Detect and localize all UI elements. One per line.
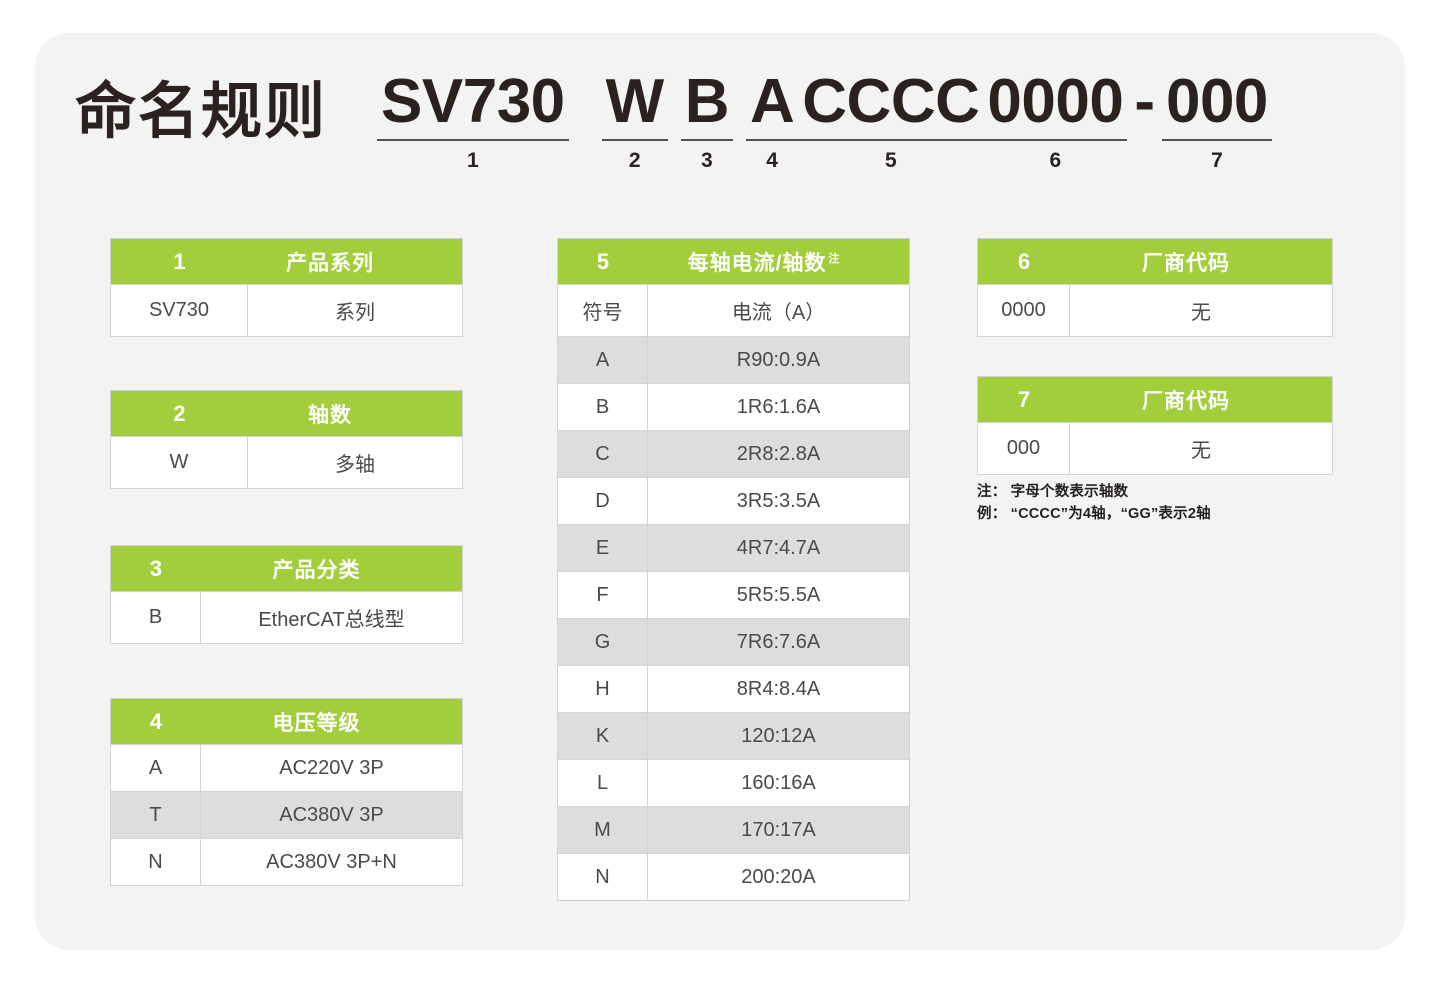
table-cell-code: L bbox=[558, 760, 648, 806]
table-header-label-text: 电压等级 bbox=[273, 712, 361, 735]
table-cell-description: 8R4:8.4A bbox=[648, 666, 909, 712]
code-segment-rule bbox=[798, 139, 983, 141]
table-cell-description: AC380V 3P bbox=[201, 792, 462, 838]
table-cell-description: 1R6:1.6A bbox=[648, 384, 909, 430]
table-row: E4R7:4.7A bbox=[558, 524, 909, 571]
table-row: AR90:0.9A bbox=[558, 336, 909, 383]
code-segment-text: SV730 bbox=[377, 69, 569, 134]
table-row: 符号电流（A） bbox=[558, 284, 909, 336]
table-product-category: 3产品分类BEtherCAT总线型 bbox=[110, 545, 463, 644]
table-current-per-axis: 5每轴电流/轴数注符号电流（A）AR90:0.9AB1R6:1.6AC2R8:2… bbox=[557, 238, 910, 901]
table-cell-description: R90:0.9A bbox=[648, 337, 909, 383]
code-segment-1: SV7301 bbox=[377, 69, 569, 171]
table-cell-code: F bbox=[558, 572, 648, 618]
code-segment-rule bbox=[602, 139, 668, 141]
table-row: K120:12A bbox=[558, 712, 909, 759]
table-header-label-text: 产品系列 bbox=[286, 252, 374, 275]
table-cell-code: SV730 bbox=[111, 285, 248, 336]
table-row: TAC380V 3P bbox=[111, 791, 462, 838]
code-segment-text: 0000 bbox=[983, 69, 1127, 134]
table-header-label: 产品系列 bbox=[248, 247, 462, 277]
table-cell-description: 系列 bbox=[248, 285, 462, 336]
table-row: BEtherCAT总线型 bbox=[111, 591, 462, 643]
table-cell-code: N bbox=[111, 839, 201, 885]
table-cell-description: 170:17A bbox=[648, 807, 909, 853]
table-header-label-text: 每轴电流/轴数 bbox=[688, 252, 827, 275]
model-code-breakdown: SV7301W2B3A4CCCC500006-0007 bbox=[377, 69, 1272, 171]
table-cell-code: E bbox=[558, 525, 648, 571]
footnote-line-1: 注： 字母个数表示轴数 bbox=[977, 481, 1211, 503]
table-cell-code: D bbox=[558, 478, 648, 524]
table-row: W多轴 bbox=[111, 436, 462, 488]
code-segment-text: CCCC bbox=[798, 69, 983, 134]
table-cell-code: 000 bbox=[978, 423, 1070, 474]
table-cell-description: 160:16A bbox=[648, 760, 909, 806]
table-header-index: 2 bbox=[111, 401, 248, 427]
code-segment-index: 2 bbox=[629, 150, 641, 171]
table-cell-code: N bbox=[558, 854, 648, 900]
code-segment-text: A bbox=[746, 69, 798, 134]
table-cell-description: 200:20A bbox=[648, 854, 909, 900]
code-dash: - bbox=[1134, 69, 1155, 134]
table-cell-code: A bbox=[558, 337, 648, 383]
code-segment-index: 4 bbox=[766, 150, 778, 171]
table-cell-description: 5R5:5.5A bbox=[648, 572, 909, 618]
table-cell-code: H bbox=[558, 666, 648, 712]
table-header: 4电压等级 bbox=[111, 699, 462, 744]
table-row: G7R6:7.6A bbox=[558, 618, 909, 665]
table-cell-description: 3R5:3.5A bbox=[648, 478, 909, 524]
table-cell-description: AC220V 3P bbox=[201, 745, 462, 791]
table-header-index: 7 bbox=[978, 387, 1070, 413]
table-header-label-text: 厂商代码 bbox=[1142, 390, 1230, 413]
page-title: 命名规则 bbox=[75, 81, 327, 142]
table-cell-description: AC380V 3P+N bbox=[201, 839, 462, 885]
header: 命名规则 SV7301W2B3A4CCCC500006-0007 bbox=[75, 55, 1272, 175]
table-header-label: 每轴电流/轴数注 bbox=[648, 247, 909, 277]
table-cell-code: 0000 bbox=[978, 285, 1070, 336]
code-segment-3: B3 bbox=[681, 69, 733, 171]
code-segment-rule bbox=[1162, 139, 1272, 141]
code-segment-index: 5 bbox=[885, 150, 897, 171]
table-row: NAC380V 3P+N bbox=[111, 838, 462, 885]
table-cell-code: T bbox=[111, 792, 201, 838]
code-segment-rule bbox=[983, 139, 1127, 141]
code-segment-index: 7 bbox=[1211, 150, 1223, 171]
table-row: D3R5:3.5A bbox=[558, 477, 909, 524]
table-row: 0000无 bbox=[978, 284, 1332, 336]
table-cell-code: A bbox=[111, 745, 201, 791]
table-row: F5R5:5.5A bbox=[558, 571, 909, 618]
table-header: 7厂商代码 bbox=[978, 377, 1332, 422]
table-row: M170:17A bbox=[558, 806, 909, 853]
code-segment-4: A4 bbox=[746, 69, 798, 171]
table-manufacturer-code-6: 6厂商代码0000无 bbox=[977, 238, 1333, 337]
table-header-index: 5 bbox=[558, 249, 648, 275]
table-cell-code: 符号 bbox=[558, 285, 648, 336]
table-header-index: 1 bbox=[111, 249, 248, 275]
table-cell-description: 电流（A） bbox=[648, 285, 909, 336]
code-segment-rule bbox=[681, 139, 733, 141]
table-cell-description: 7R6:7.6A bbox=[648, 619, 909, 665]
table-header: 5每轴电流/轴数注 bbox=[558, 239, 909, 284]
table-row: L160:16A bbox=[558, 759, 909, 806]
table-header-label: 轴数 bbox=[248, 399, 462, 429]
table-row: SV730系列 bbox=[111, 284, 462, 336]
code-segment-index: 1 bbox=[467, 150, 479, 171]
table-cell-description: 无 bbox=[1070, 285, 1332, 336]
code-segment-index: 3 bbox=[701, 150, 713, 171]
table-header-label: 厂商代码 bbox=[1070, 247, 1332, 277]
code-segment-text: W bbox=[602, 69, 668, 134]
code-segment-rule bbox=[746, 139, 798, 141]
code-segment-index: 6 bbox=[1050, 150, 1062, 171]
table-cell-code: B bbox=[558, 384, 648, 430]
table-header: 2轴数 bbox=[111, 391, 462, 436]
table-header-label: 厂商代码 bbox=[1070, 385, 1332, 415]
table-cell-code: G bbox=[558, 619, 648, 665]
code-segment-text: B bbox=[681, 69, 733, 134]
table-voltage-level: 4电压等级AAC220V 3PTAC380V 3PNAC380V 3P+N bbox=[110, 698, 463, 886]
table-header-label-text: 轴数 bbox=[308, 404, 352, 427]
table-row: AAC220V 3P bbox=[111, 744, 462, 791]
code-segment-6: 00006 bbox=[983, 69, 1127, 171]
table-header-label: 电压等级 bbox=[201, 707, 462, 737]
table-row: N200:20A bbox=[558, 853, 909, 900]
code-segment-7: 0007 bbox=[1162, 69, 1272, 171]
table-header-index: 4 bbox=[111, 709, 201, 735]
naming-rule-page: 命名规则 SV7301W2B3A4CCCC500006-0007 1产品系列SV… bbox=[0, 0, 1440, 994]
table-manufacturer-code-7: 7厂商代码000无 bbox=[977, 376, 1333, 475]
table-cell-code: W bbox=[111, 437, 248, 488]
table-cell-code: M bbox=[558, 807, 648, 853]
footnote: 注： 字母个数表示轴数 例： “CCCC”为4轴，“GG”表示2轴 bbox=[977, 481, 1211, 526]
table-cell-description: EtherCAT总线型 bbox=[201, 592, 462, 643]
code-segment-text: 000 bbox=[1162, 69, 1272, 134]
table-header-label: 产品分类 bbox=[201, 554, 462, 584]
table-cell-code: K bbox=[558, 713, 648, 759]
table-header-index: 6 bbox=[978, 249, 1070, 275]
table-cell-description: 2R8:2.8A bbox=[648, 431, 909, 477]
table-header-index: 3 bbox=[111, 556, 201, 582]
table-header: 6厂商代码 bbox=[978, 239, 1332, 284]
table-header-label-text: 产品分类 bbox=[273, 559, 361, 582]
table-row: H8R4:8.4A bbox=[558, 665, 909, 712]
table-cell-description: 4R7:4.7A bbox=[648, 525, 909, 571]
footnote-line-2: 例： “CCCC”为4轴，“GG”表示2轴 bbox=[977, 503, 1211, 525]
table-row: C2R8:2.8A bbox=[558, 430, 909, 477]
table-row: B1R6:1.6A bbox=[558, 383, 909, 430]
code-segment-2: W2 bbox=[602, 69, 668, 171]
table-axis-count: 2轴数W多轴 bbox=[110, 390, 463, 489]
table-header-label-text: 厂商代码 bbox=[1142, 252, 1230, 275]
code-segment-rule bbox=[377, 139, 569, 141]
table-cell-code: B bbox=[111, 592, 201, 643]
table-header: 1产品系列 bbox=[111, 239, 462, 284]
table-header-superscript: 注 bbox=[828, 253, 839, 265]
table-cell-description: 多轴 bbox=[248, 437, 462, 488]
code-segment-5: CCCC5 bbox=[798, 69, 983, 171]
table-cell-description: 无 bbox=[1070, 423, 1332, 474]
table-cell-code: C bbox=[558, 431, 648, 477]
table-product-series: 1产品系列SV730系列 bbox=[110, 238, 463, 337]
table-row: 000无 bbox=[978, 422, 1332, 474]
table-header: 3产品分类 bbox=[111, 546, 462, 591]
table-cell-description: 120:12A bbox=[648, 713, 909, 759]
